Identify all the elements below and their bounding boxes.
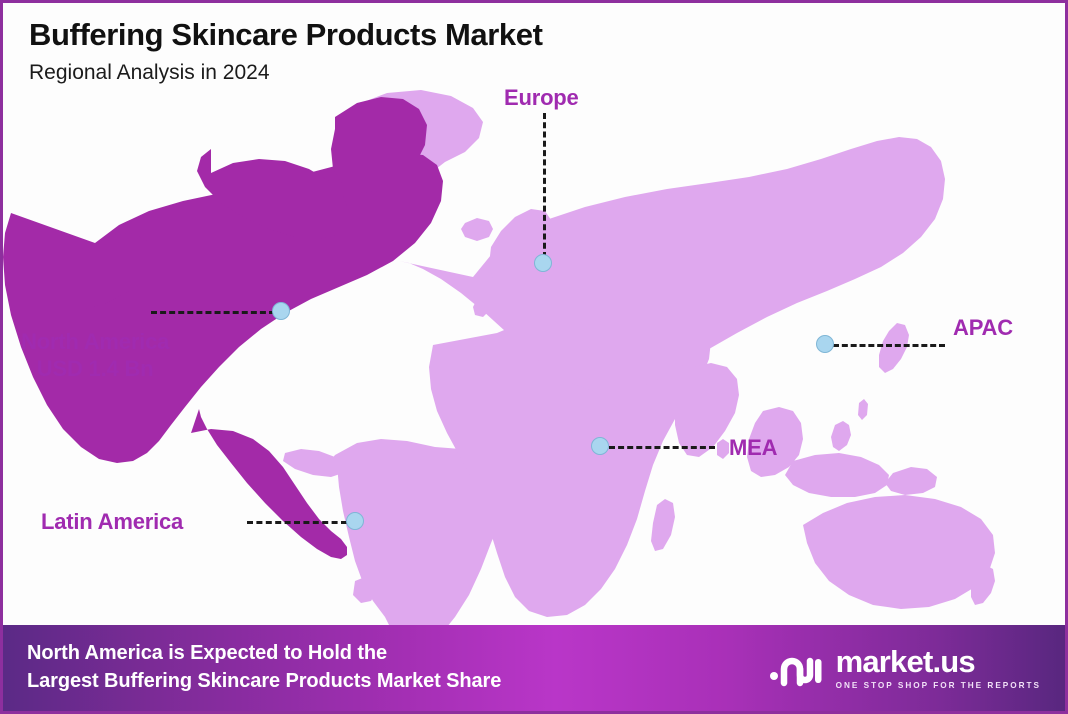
market-us-logo[interactable]: market.us ONE STOP SHOP FOR THE REPORTS [769, 646, 1041, 690]
papua-new-guinea-shape [885, 467, 937, 495]
page-subtitle: Regional Analysis in 2024 [29, 61, 543, 85]
banner-headline: North America is Expected to Hold the La… [27, 640, 501, 695]
banner-headline-line2: Largest Buffering Skincare Products Mark… [27, 668, 501, 696]
caribbean-shape [283, 449, 345, 477]
world-map-container [3, 81, 1065, 626]
australia-shape [803, 495, 995, 609]
world-map [3, 81, 1065, 626]
sri-lanka-shape [717, 439, 729, 459]
madagascar-shape [651, 499, 675, 551]
mexico-central-america-shape [191, 403, 347, 559]
india-shape [675, 363, 739, 457]
bottom-banner: North America is Expected to Hold the La… [3, 625, 1065, 711]
iceland-shape [461, 218, 493, 241]
header: Buffering Skincare Products Market Regio… [29, 17, 543, 85]
banner-headline-line1: North America is Expected to Hold the [27, 642, 387, 664]
taiwan-shape [858, 399, 868, 420]
logo-tagline: ONE STOP SHOP FOR THE REPORTS [836, 681, 1041, 690]
japan-shape [879, 323, 909, 373]
logo-text-block: market.us ONE STOP SHOP FOR THE REPORTS [836, 646, 1041, 690]
southeast-asia-shape [747, 407, 889, 497]
philippines-shape [831, 421, 851, 451]
page-title: Buffering Skincare Products Market [29, 17, 543, 53]
market-us-logo-mark [769, 649, 825, 687]
infographic-canvas: Buffering Skincare Products Market Regio… [0, 0, 1068, 714]
logo-wordmark: market.us [836, 646, 975, 677]
